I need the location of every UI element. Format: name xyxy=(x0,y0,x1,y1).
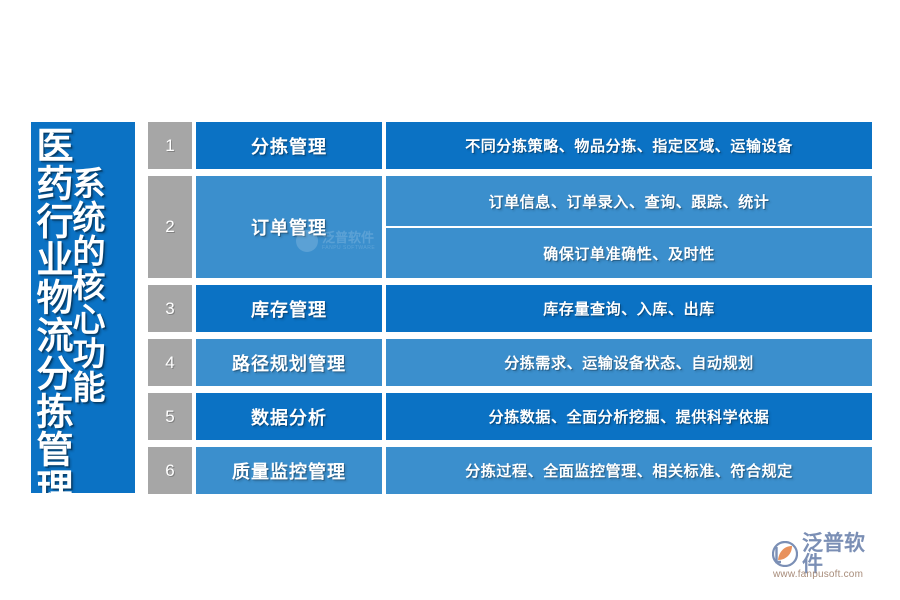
fanpu-logo-icon xyxy=(772,541,798,567)
row-description: 分拣需求、运输设备状态、自动规划 xyxy=(386,339,872,386)
table-row: 4 路径规划管理 分拣需求、运输设备状态、自动规划 xyxy=(148,339,872,386)
row-name[interactable]: 路径规划管理 xyxy=(196,339,382,386)
table-row: 1 分拣管理 不同分拣策略、物品分拣、指定区域、运输设备 xyxy=(148,122,872,169)
description-line: 分拣数据、全面分析挖掘、提供科学依据 xyxy=(386,393,872,440)
row-number: 3 xyxy=(148,285,192,332)
row-name[interactable]: 分拣管理 xyxy=(196,122,382,169)
slide-canvas: 系统的核心功能 医药行业物流分拣管理 1 分拣管理 不同分拣策略、物品分拣、指定… xyxy=(0,0,900,600)
table-row: 6 质量监控管理 分拣过程、全面监控管理、相关标准、符合规定 xyxy=(148,447,872,494)
functions-table: 1 分拣管理 不同分拣策略、物品分拣、指定区域、运输设备 2 订单管理 订单信息… xyxy=(148,122,872,493)
row-number: 2 xyxy=(148,176,192,278)
row-description: 不同分拣策略、物品分拣、指定区域、运输设备 xyxy=(386,122,872,169)
brand-logo-row: 泛普软件 xyxy=(772,540,884,568)
description-line: 分拣需求、运输设备状态、自动规划 xyxy=(386,339,872,386)
row-description: 订单信息、订单录入、查询、跟踪、统计 确保订单准确性、及时性 xyxy=(386,176,872,278)
brand-url: www.fanpusoft.com xyxy=(773,569,863,580)
row-name[interactable]: 库存管理 xyxy=(196,285,382,332)
description-line: 库存量查询、入库、出库 xyxy=(386,285,872,332)
row-name[interactable]: 订单管理 xyxy=(196,176,382,278)
brand-logo: 泛普软件 www.fanpusoft.com xyxy=(772,540,884,584)
row-name[interactable]: 数据分析 xyxy=(196,393,382,440)
row-description: 分拣过程、全面监控管理、相关标准、符合规定 xyxy=(386,447,872,494)
row-description: 库存量查询、入库、出库 xyxy=(386,285,872,332)
row-name[interactable]: 质量监控管理 xyxy=(196,447,382,494)
row-number: 6 xyxy=(148,447,192,494)
description-line: 确保订单准确性、及时性 xyxy=(386,226,872,278)
description-line: 分拣过程、全面监控管理、相关标准、符合规定 xyxy=(386,447,872,494)
row-number: 4 xyxy=(148,339,192,386)
table-row: 5 数据分析 分拣数据、全面分析挖掘、提供科学依据 xyxy=(148,393,872,440)
title-subtitle: 系统的核心功能 xyxy=(70,166,103,404)
row-number: 5 xyxy=(148,393,192,440)
row-description: 分拣数据、全面分析挖掘、提供科学依据 xyxy=(386,393,872,440)
description-line: 订单信息、订单录入、查询、跟踪、统计 xyxy=(386,176,872,226)
title-main: 医药行业物流分拣管理 xyxy=(33,126,70,493)
vertical-title-panel: 系统的核心功能 医药行业物流分拣管理 xyxy=(31,122,135,493)
description-line: 不同分拣策略、物品分拣、指定区域、运输设备 xyxy=(386,122,872,169)
table-row: 3 库存管理 库存量查询、入库、出库 xyxy=(148,285,872,332)
row-number: 1 xyxy=(148,122,192,169)
table-row: 2 订单管理 订单信息、订单录入、查询、跟踪、统计 确保订单准确性、及时性 xyxy=(148,176,872,278)
